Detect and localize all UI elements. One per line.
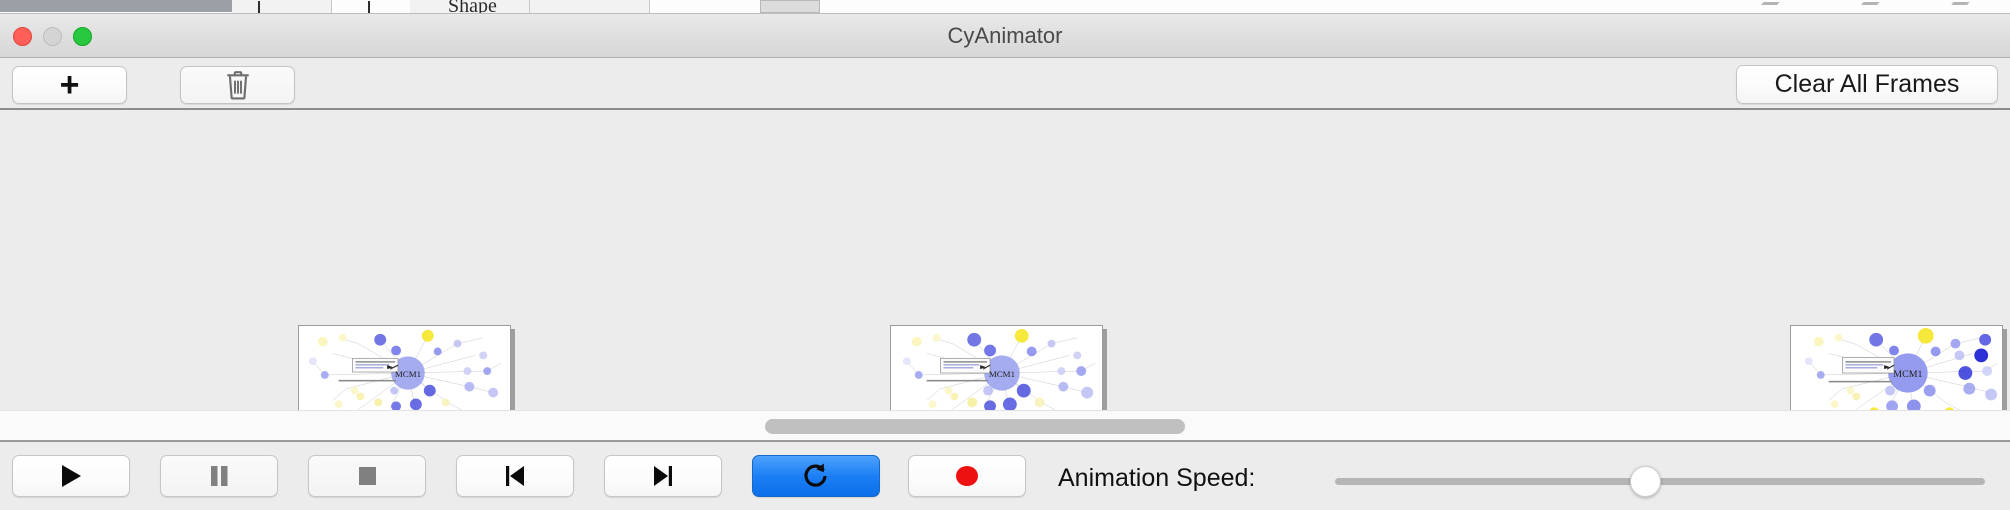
skip-to-end-button[interactable] (604, 455, 722, 497)
play-button[interactable] (12, 455, 130, 497)
background-window-strip: Shape (0, 0, 2010, 14)
timeline-panel[interactable]: MCM1 (0, 110, 2010, 410)
svg-text:MCM1: MCM1 (1893, 369, 1922, 380)
background-tick (258, 1, 260, 13)
frame-thumbnail-3[interactable]: MCM1 (1790, 325, 2003, 410)
frame-toolbar: + Clear All Frames (0, 58, 2010, 110)
network-graph-preview: MCM1 (891, 326, 1102, 410)
add-frame-button[interactable]: + (12, 66, 127, 104)
animation-speed-slider-thumb[interactable] (1630, 466, 1661, 497)
skip-to-end-icon (650, 462, 676, 490)
frame-thumbnail-2[interactable]: MCM1 (890, 325, 1103, 410)
animation-speed-label: Animation Speed: (1058, 464, 1255, 493)
svg-text:MCM1: MCM1 (395, 369, 421, 379)
record-button[interactable] (908, 455, 1026, 497)
record-icon (953, 462, 981, 490)
pause-button[interactable] (160, 455, 278, 497)
window-title: CyAnimator (0, 14, 2010, 58)
network-graph-preview: MCM1 (1791, 326, 2002, 410)
loop-button[interactable] (752, 455, 880, 497)
skip-to-start-icon (502, 462, 528, 490)
delete-frame-button[interactable] (180, 66, 295, 104)
background-chevron-icon (1856, 2, 1879, 11)
svg-text:MCM1: MCM1 (989, 369, 1015, 379)
background-segment (530, 0, 650, 13)
skip-to-start-button[interactable] (456, 455, 574, 497)
timeline-scrollbar[interactable] (0, 410, 2010, 442)
background-dark-tab (0, 0, 232, 12)
play-icon (58, 462, 84, 490)
background-window-label: Shape (448, 0, 497, 14)
loop-icon (801, 461, 831, 491)
cyanimator-window: Shape CyAnimator + Clear All Frames (0, 0, 2010, 510)
frame-thumbnail-1[interactable]: MCM1 (298, 325, 511, 410)
stop-button[interactable] (308, 455, 426, 497)
scrollbar-thumb[interactable] (765, 419, 1185, 434)
playback-control-bar: Animation Speed: (0, 444, 2010, 510)
background-box (760, 0, 820, 13)
background-tick (368, 1, 370, 13)
background-segment (232, 0, 332, 13)
plus-icon: + (60, 68, 80, 102)
trash-icon (225, 70, 251, 100)
background-chevron-icon (1946, 2, 1969, 11)
stop-icon (354, 462, 380, 490)
clear-all-frames-button[interactable]: Clear All Frames (1736, 65, 1998, 104)
title-bar[interactable]: CyAnimator (0, 14, 2010, 58)
background-chevron-icon (1756, 2, 1779, 11)
network-graph-preview: MCM1 (299, 326, 510, 410)
pause-icon (206, 462, 232, 490)
